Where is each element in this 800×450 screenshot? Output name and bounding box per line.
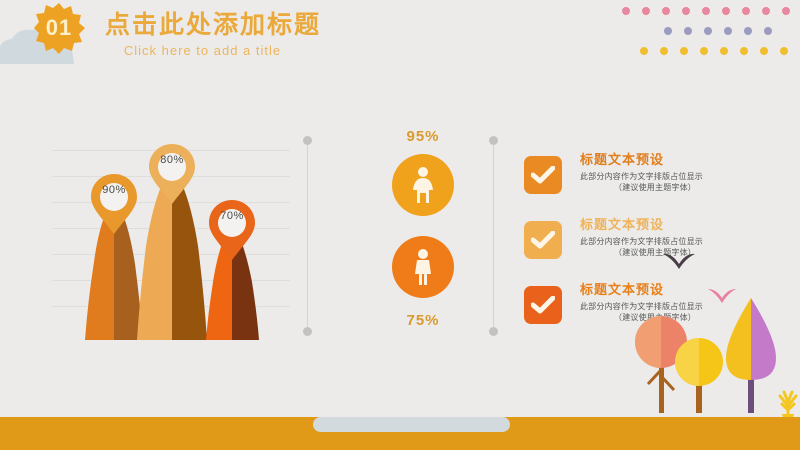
divider-right — [489, 136, 498, 336]
female-percent-label: 95% — [368, 128, 478, 145]
list-item[interactable]: 标题文本预设 此部分内容作为文字排版占位显示 （建议使用主题字体） — [524, 217, 794, 282]
check-badge-3[interactable] — [524, 286, 562, 324]
decor-dot — [764, 27, 772, 35]
decor-dot — [724, 27, 732, 35]
decor-dot — [642, 7, 650, 15]
divider-line — [493, 140, 494, 332]
check-icon — [531, 296, 555, 314]
list-item-body-line2: （建议使用主题字体） — [580, 182, 730, 194]
tree-trunk — [659, 358, 664, 413]
list-item-heading: 标题文本预设 — [580, 282, 790, 298]
male-percent-label: 75% — [368, 312, 478, 329]
decor-dot — [622, 7, 630, 15]
divider-cap-bottom — [489, 327, 498, 336]
slide-number-badge: 01 — [33, 2, 85, 54]
decor-dot — [744, 27, 752, 35]
mountain-chart: 90% 80% 70% — [52, 128, 290, 340]
list-item-body-line1: 此部分内容作为文字排版占位显示 — [580, 236, 790, 248]
chart-pin-2: 80% — [146, 142, 198, 206]
divider-left — [303, 136, 312, 336]
decor-dot — [664, 27, 672, 35]
list-item-text: 标题文本预设 此部分内容作为文字排版占位显示 （建议使用主题字体） — [580, 152, 790, 194]
chart-pin-label-1: 90% — [88, 184, 140, 196]
female-stat-circle — [392, 154, 454, 216]
decor-dot — [700, 47, 708, 55]
decor-dot — [720, 47, 728, 55]
slide-canvas: 01 点击此处添加标题 Click here to add a title — [0, 0, 800, 450]
divider-cap-top — [303, 136, 312, 145]
decor-dot — [742, 7, 750, 15]
decor-dot — [682, 7, 690, 15]
decor-dot — [680, 47, 688, 55]
gold-dot-row — [640, 47, 788, 55]
gender-stats-block: 95% 75% — [368, 128, 478, 340]
divider-cap-top — [489, 136, 498, 145]
pin-marker-icon — [88, 172, 140, 236]
list-item-body-line1: 此部分内容作为文字排版占位显示 — [580, 301, 790, 313]
list-item-body-line2: （建议使用主题字体） — [580, 247, 730, 259]
page-title: 点击此处添加标题 — [105, 12, 525, 40]
decor-dot — [760, 47, 768, 55]
decor-dot — [780, 47, 788, 55]
male-stat-circle — [392, 236, 454, 298]
decorative-dot-grid — [612, 5, 792, 65]
tree-trunk — [748, 360, 754, 413]
decor-dot — [762, 7, 770, 15]
female-icon — [408, 166, 438, 204]
decor-dot — [704, 27, 712, 35]
male-icon — [410, 248, 436, 286]
pin-marker-icon — [206, 198, 258, 262]
list-item-body-line1: 此部分内容作为文字排版占位显示 — [580, 171, 790, 183]
decor-dot — [662, 7, 670, 15]
decor-dot — [640, 47, 648, 55]
divider-line — [307, 140, 308, 332]
chart-pin-label-2: 80% — [146, 154, 198, 166]
check-icon — [531, 231, 555, 249]
chart-pin-1: 90% — [88, 172, 140, 236]
tree-trunk — [696, 375, 702, 413]
decor-dot — [684, 27, 692, 35]
pink-dot-row — [622, 7, 790, 15]
title-block: 点击此处添加标题 Click here to add a title — [105, 12, 525, 58]
check-badge-1[interactable] — [524, 156, 562, 194]
divider-cap-bottom — [303, 327, 312, 336]
list-item-text: 标题文本预设 此部分内容作为文字排版占位显示 （建议使用主题字体） — [580, 282, 790, 324]
list-item-heading: 标题文本预设 — [580, 152, 790, 168]
decor-dot — [722, 7, 730, 15]
ground-pill-shape — [313, 417, 510, 432]
bird-dark-icon — [662, 252, 696, 270]
decor-dot — [740, 47, 748, 55]
list-item[interactable]: 标题文本预设 此部分内容作为文字排版占位显示 （建议使用主题字体） — [524, 282, 794, 347]
page-subtitle: Click here to add a title — [105, 43, 300, 58]
pin-marker-icon — [146, 142, 198, 206]
list-item-body-line2: （建议使用主题字体） — [580, 312, 730, 324]
bird-pink-icon — [707, 288, 737, 304]
purple-dot-row — [664, 27, 772, 35]
check-badge-2[interactable] — [524, 221, 562, 259]
chart-pin-label-3: 70% — [206, 210, 258, 222]
feature-list: 标题文本预设 此部分内容作为文字排版占位显示 （建议使用主题字体） 标题文本预设… — [524, 152, 794, 347]
list-item-heading: 标题文本预设 — [580, 217, 790, 233]
slide-number-label: 01 — [33, 2, 85, 54]
decor-dot — [660, 47, 668, 55]
decor-dot — [702, 7, 710, 15]
list-item[interactable]: 标题文本预设 此部分内容作为文字排版占位显示 （建议使用主题字体） — [524, 152, 794, 217]
decor-dot — [782, 7, 790, 15]
check-icon — [531, 166, 555, 184]
chart-pin-3: 70% — [206, 198, 258, 262]
